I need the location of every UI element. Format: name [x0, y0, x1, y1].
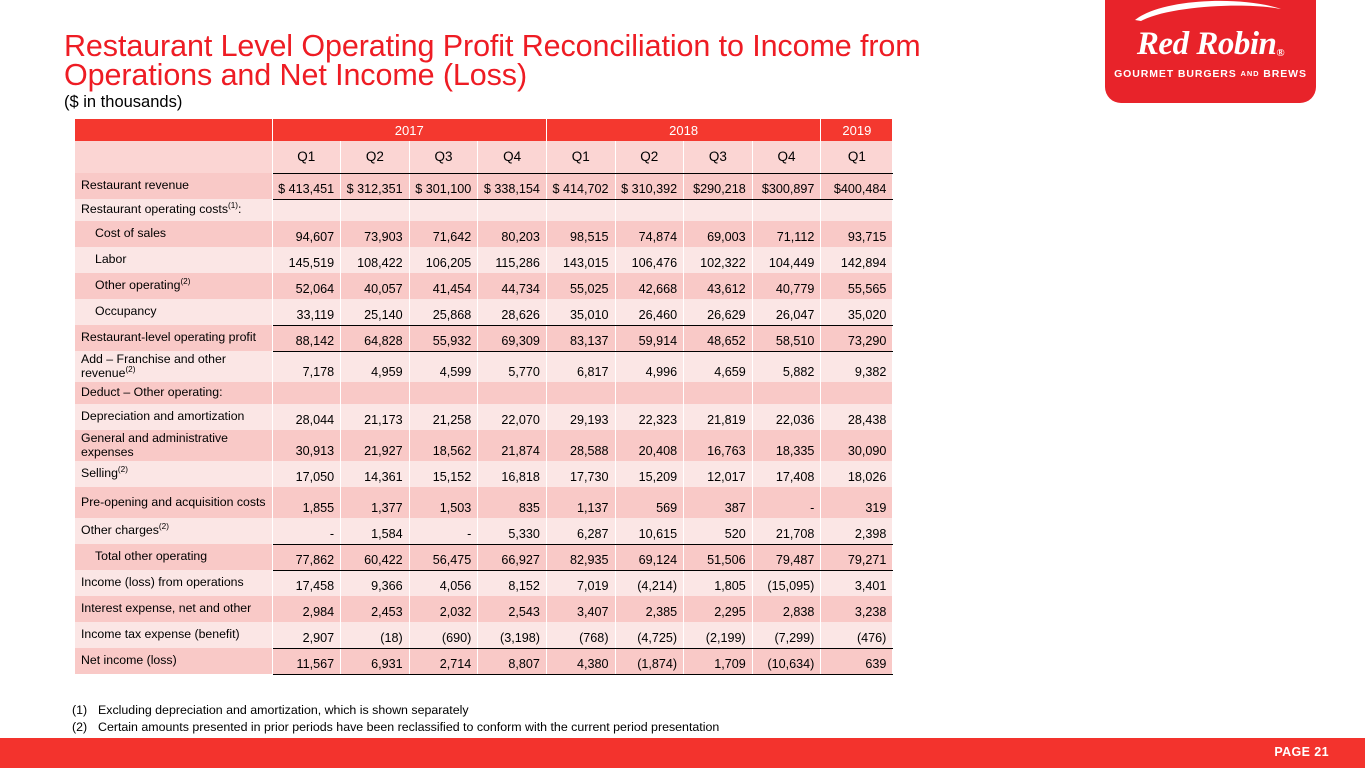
- cell-r16-c0: 2,984: [272, 596, 341, 622]
- page-title: Restaurant Level Operating Profit Reconc…: [64, 32, 1004, 90]
- cell-r13-c0: -: [272, 518, 341, 544]
- cell-r10-c4: 28,588: [546, 430, 615, 461]
- cell-r14-c5: 69,124: [615, 544, 684, 570]
- cell-r17-c8: (476): [821, 622, 893, 648]
- cell-r8-c2: [409, 382, 478, 404]
- cell-r2-c8: 93,715: [821, 221, 893, 247]
- cell-r3-c1: 108,422: [341, 247, 410, 273]
- cell-r13-c5: 10,615: [615, 518, 684, 544]
- cell-r2-c3: 80,203: [478, 221, 547, 247]
- cell-r18-c1: 6,931: [341, 648, 410, 674]
- cell-r3-c4: 143,015: [546, 247, 615, 273]
- table-row: Cost of sales94,60773,90371,64280,20398,…: [75, 221, 893, 247]
- cell-r1-c8: [821, 199, 893, 221]
- cell-r16-c8: 3,238: [821, 596, 893, 622]
- year-header-2019: 2019: [821, 119, 893, 141]
- cell-r9-c2: 21,258: [409, 404, 478, 430]
- footnote-marker: (1): [72, 702, 98, 719]
- cell-r8-c1: [341, 382, 410, 404]
- cell-r5-c4: 35,010: [546, 299, 615, 325]
- cell-r9-c1: 21,173: [341, 404, 410, 430]
- cell-r6-c8: 73,290: [821, 325, 893, 351]
- table-row: Add – Franchise and other revenue(2)7,17…: [75, 351, 893, 382]
- cell-r11-c5: 15,209: [615, 461, 684, 487]
- row-label: Deduct – Other operating:: [75, 382, 272, 404]
- cell-r5-c8: 35,020: [821, 299, 893, 325]
- cell-r10-c1: 21,927: [341, 430, 410, 461]
- table-row: Occupancy33,11925,14025,86828,62635,0102…: [75, 299, 893, 325]
- cell-r15-c1: 9,366: [341, 570, 410, 596]
- cell-r1-c3: [478, 199, 547, 221]
- row-label: Pre-opening and acquisition costs: [75, 487, 272, 518]
- cell-r10-c0: 30,913: [272, 430, 341, 461]
- cell-r8-c3: [478, 382, 547, 404]
- cell-r8-c7: [752, 382, 821, 404]
- cell-r0-c7: $300,897: [752, 173, 821, 199]
- cell-r18-c5: (1,874): [615, 648, 684, 674]
- row-label: Interest expense, net and other: [75, 596, 272, 622]
- quarter-header-6: Q3: [684, 141, 753, 173]
- logo-tagline: GOURMET BURGERS AND BREWS: [1105, 68, 1316, 80]
- table-body: Restaurant revenue$ 413,451$ 312,351$ 30…: [75, 173, 893, 674]
- cell-r10-c2: 18,562: [409, 430, 478, 461]
- cell-r6-c5: 59,914: [615, 325, 684, 351]
- cell-r3-c5: 106,476: [615, 247, 684, 273]
- cell-r17-c2: (690): [409, 622, 478, 648]
- cell-r13-c6: 520: [684, 518, 753, 544]
- cell-r13-c7: 21,708: [752, 518, 821, 544]
- row-label: Restaurant-level operating profit: [75, 325, 272, 351]
- quarter-header-3: Q4: [478, 141, 547, 173]
- cell-r12-c4: 1,137: [546, 487, 615, 518]
- cell-r4-c3: 44,734: [478, 273, 547, 299]
- cell-r16-c7: 2,838: [752, 596, 821, 622]
- cell-r17-c1: (18): [341, 622, 410, 648]
- footnote-2: (2)Certain amounts presented in prior pe…: [72, 719, 719, 736]
- cell-r4-c6: 43,612: [684, 273, 753, 299]
- table-row: Income tax expense (benefit)2,907(18)(69…: [75, 622, 893, 648]
- cell-r18-c3: 8,807: [478, 648, 547, 674]
- cell-r12-c6: 387: [684, 487, 753, 518]
- cell-r6-c7: 58,510: [752, 325, 821, 351]
- cell-r9-c8: 28,438: [821, 404, 893, 430]
- cell-r5-c2: 25,868: [409, 299, 478, 325]
- cell-r7-c5: 4,996: [615, 351, 684, 382]
- table-corner-cell: [75, 119, 272, 141]
- cell-r1-c1: [341, 199, 410, 221]
- row-label: Labor: [75, 247, 272, 273]
- cell-r3-c6: 102,322: [684, 247, 753, 273]
- table-row: Selling(2)17,05014,36115,15216,81817,730…: [75, 461, 893, 487]
- cell-r7-c2: 4,599: [409, 351, 478, 382]
- cell-r12-c8: 319: [821, 487, 893, 518]
- cell-r14-c6: 51,506: [684, 544, 753, 570]
- table-row: Restaurant operating costs(1):: [75, 199, 893, 221]
- row-label: Other operating(2): [75, 273, 272, 299]
- cell-r12-c2: 1,503: [409, 487, 478, 518]
- table-row: Pre-opening and acquisition costs1,8551,…: [75, 487, 893, 518]
- footer-bar: PAGE 21: [0, 738, 1365, 768]
- cell-r9-c7: 22,036: [752, 404, 821, 430]
- page-number: PAGE 21: [1274, 745, 1329, 759]
- cell-r4-c5: 42,668: [615, 273, 684, 299]
- financial-table-wrapper: 201720182019 Q1Q2Q3Q4Q1Q2Q3Q4Q1 Restaura…: [75, 119, 890, 675]
- cell-r14-c3: 66,927: [478, 544, 547, 570]
- row-label: Other charges(2): [75, 518, 272, 544]
- footnotes: (1)Excluding depreciation and amortizati…: [72, 702, 719, 736]
- cell-r4-c7: 40,779: [752, 273, 821, 299]
- cell-r4-c8: 55,565: [821, 273, 893, 299]
- cell-r2-c5: 74,874: [615, 221, 684, 247]
- cell-r0-c8: $400,484: [821, 173, 893, 199]
- cell-r12-c5: 569: [615, 487, 684, 518]
- table-year-header-row: 201720182019: [75, 119, 893, 141]
- quarter-header-0: Q1: [272, 141, 341, 173]
- quarter-header-2: Q3: [409, 141, 478, 173]
- cell-r12-c1: 1,377: [341, 487, 410, 518]
- cell-r3-c3: 115,286: [478, 247, 547, 273]
- cell-r3-c0: 145,519: [272, 247, 341, 273]
- table-row: Deduct – Other operating:: [75, 382, 893, 404]
- table-row: Other operating(2)52,06440,05741,45444,7…: [75, 273, 893, 299]
- cell-r17-c7: (7,299): [752, 622, 821, 648]
- cell-r0-c1: $ 312,351: [341, 173, 410, 199]
- cell-r11-c4: 17,730: [546, 461, 615, 487]
- quarter-header-4: Q1: [546, 141, 615, 173]
- cell-r10-c7: 18,335: [752, 430, 821, 461]
- cell-r14-c0: 77,862: [272, 544, 341, 570]
- cell-r7-c4: 6,817: [546, 351, 615, 382]
- cell-r18-c8: 639: [821, 648, 893, 674]
- cell-r11-c3: 16,818: [478, 461, 547, 487]
- quarter-header-8: Q1: [821, 141, 893, 173]
- financial-table: 201720182019 Q1Q2Q3Q4Q1Q2Q3Q4Q1 Restaura…: [75, 119, 893, 675]
- cell-r11-c6: 12,017: [684, 461, 753, 487]
- cell-r6-c1: 64,828: [341, 325, 410, 351]
- row-label: General and administrative expenses: [75, 430, 272, 461]
- cell-r2-c1: 73,903: [341, 221, 410, 247]
- cell-r13-c2: -: [409, 518, 478, 544]
- cell-r2-c7: 71,112: [752, 221, 821, 247]
- cell-r5-c3: 28,626: [478, 299, 547, 325]
- table-row: Income (loss) from operations17,4589,366…: [75, 570, 893, 596]
- cell-r0-c4: $ 414,702: [546, 173, 615, 199]
- cell-r3-c2: 106,205: [409, 247, 478, 273]
- cell-r1-c6: [684, 199, 753, 221]
- cell-r15-c2: 4,056: [409, 570, 478, 596]
- row-label: Restaurant operating costs(1):: [75, 199, 272, 221]
- cell-r8-c5: [615, 382, 684, 404]
- cell-r16-c4: 3,407: [546, 596, 615, 622]
- cell-r11-c0: 17,050: [272, 461, 341, 487]
- cell-r18-c4: 4,380: [546, 648, 615, 674]
- cell-r15-c0: 17,458: [272, 570, 341, 596]
- cell-r5-c5: 26,460: [615, 299, 684, 325]
- cell-r4-c4: 55,025: [546, 273, 615, 299]
- quarter-header-1: Q2: [341, 141, 410, 173]
- cell-r13-c4: 6,287: [546, 518, 615, 544]
- cell-r6-c0: 88,142: [272, 325, 341, 351]
- cell-r17-c3: (3,198): [478, 622, 547, 648]
- row-label: Selling(2): [75, 461, 272, 487]
- row-label: Occupancy: [75, 299, 272, 325]
- quarter-header-5: Q2: [615, 141, 684, 173]
- row-label: Cost of sales: [75, 221, 272, 247]
- cell-r7-c1: 4,959: [341, 351, 410, 382]
- cell-r13-c8: 2,398: [821, 518, 893, 544]
- cell-r12-c7: -: [752, 487, 821, 518]
- cell-r5-c0: 33,119: [272, 299, 341, 325]
- row-label: Restaurant revenue: [75, 173, 272, 199]
- cell-r2-c2: 71,642: [409, 221, 478, 247]
- footnote-marker: (2): [72, 719, 98, 736]
- table-row: Total other operating77,86260,42256,4756…: [75, 544, 893, 570]
- cell-r5-c6: 26,629: [684, 299, 753, 325]
- row-label: Income tax expense (benefit): [75, 622, 272, 648]
- cell-r11-c7: 17,408: [752, 461, 821, 487]
- cell-r9-c3: 22,070: [478, 404, 547, 430]
- cell-r9-c6: 21,819: [684, 404, 753, 430]
- cell-r14-c4: 82,935: [546, 544, 615, 570]
- cell-r4-c0: 52,064: [272, 273, 341, 299]
- cell-r2-c0: 94,607: [272, 221, 341, 247]
- table-row: Restaurant-level operating profit88,1426…: [75, 325, 893, 351]
- row-label: Net income (loss): [75, 648, 272, 674]
- footnote-text: Excluding depreciation and amortization,…: [98, 703, 469, 717]
- cell-r3-c7: 104,449: [752, 247, 821, 273]
- page-subtitle: ($ in thousands): [64, 93, 182, 112]
- cell-r1-c5: [615, 199, 684, 221]
- cell-r11-c2: 15,152: [409, 461, 478, 487]
- quarter-header-spacer: [75, 141, 272, 173]
- cell-r11-c8: 18,026: [821, 461, 893, 487]
- row-label: Add – Franchise and other revenue(2): [75, 351, 272, 382]
- cell-r11-c1: 14,361: [341, 461, 410, 487]
- table-row: Labor145,519108,422106,205115,286143,015…: [75, 247, 893, 273]
- red-robin-logo: Red Robin® GOURMET BURGERS AND BREWS: [1105, 0, 1316, 103]
- cell-r7-c6: 4,659: [684, 351, 753, 382]
- cell-r8-c0: [272, 382, 341, 404]
- cell-r0-c0: $ 413,451: [272, 173, 341, 199]
- row-label: Depreciation and amortization: [75, 404, 272, 430]
- cell-r1-c7: [752, 199, 821, 221]
- cell-r7-c0: 7,178: [272, 351, 341, 382]
- cell-r16-c2: 2,032: [409, 596, 478, 622]
- cell-r7-c3: 5,770: [478, 351, 547, 382]
- cell-r16-c6: 2,295: [684, 596, 753, 622]
- cell-r2-c6: 69,003: [684, 221, 753, 247]
- cell-r18-c7: (10,634): [752, 648, 821, 674]
- cell-r12-c0: 1,855: [272, 487, 341, 518]
- cell-r8-c6: [684, 382, 753, 404]
- cell-r10-c8: 30,090: [821, 430, 893, 461]
- cell-r5-c1: 25,140: [341, 299, 410, 325]
- table-row: Net income (loss)11,5676,9312,7148,8074,…: [75, 648, 893, 674]
- cell-r18-c0: 11,567: [272, 648, 341, 674]
- cell-r7-c7: 5,882: [752, 351, 821, 382]
- cell-r14-c2: 56,475: [409, 544, 478, 570]
- cell-r14-c7: 79,487: [752, 544, 821, 570]
- cell-r12-c3: 835: [478, 487, 547, 518]
- cell-r2-c4: 98,515: [546, 221, 615, 247]
- cell-r13-c3: 5,330: [478, 518, 547, 544]
- row-label: Income (loss) from operations: [75, 570, 272, 596]
- slide-root: Red Robin® GOURMET BURGERS AND BREWS Res…: [0, 0, 1365, 768]
- cell-r0-c5: $ 310,392: [615, 173, 684, 199]
- table-row: Interest expense, net and other2,9842,45…: [75, 596, 893, 622]
- cell-r0-c3: $ 338,154: [478, 173, 547, 199]
- cell-r14-c8: 79,271: [821, 544, 893, 570]
- cell-r9-c5: 22,323: [615, 404, 684, 430]
- table-row: Restaurant revenue$ 413,451$ 312,351$ 30…: [75, 173, 893, 199]
- cell-r1-c2: [409, 199, 478, 221]
- cell-r0-c2: $ 301,100: [409, 173, 478, 199]
- table-row: Other charges(2)-1,584-5,3306,28710,6155…: [75, 518, 893, 544]
- cell-r13-c1: 1,584: [341, 518, 410, 544]
- cell-r8-c4: [546, 382, 615, 404]
- footnote-text: Certain amounts presented in prior perio…: [98, 720, 719, 734]
- cell-r9-c0: 28,044: [272, 404, 341, 430]
- cell-r9-c4: 29,193: [546, 404, 615, 430]
- cell-r6-c2: 55,932: [409, 325, 478, 351]
- cell-r17-c0: 2,907: [272, 622, 341, 648]
- cell-r6-c4: 83,137: [546, 325, 615, 351]
- cell-r17-c4: (768): [546, 622, 615, 648]
- footnote-1: (1)Excluding depreciation and amortizati…: [72, 702, 719, 719]
- cell-r1-c4: [546, 199, 615, 221]
- cell-r1-c0: [272, 199, 341, 221]
- cell-r3-c8: 142,894: [821, 247, 893, 273]
- cell-r10-c6: 16,763: [684, 430, 753, 461]
- cell-r4-c1: 40,057: [341, 273, 410, 299]
- cell-r16-c1: 2,453: [341, 596, 410, 622]
- table-row: General and administrative expenses30,91…: [75, 430, 893, 461]
- cell-r6-c6: 48,652: [684, 325, 753, 351]
- cell-r0-c6: $290,218: [684, 173, 753, 199]
- row-label: Total other operating: [75, 544, 272, 570]
- cell-r10-c3: 21,874: [478, 430, 547, 461]
- cell-r15-c5: (4,214): [615, 570, 684, 596]
- year-header-2018: 2018: [546, 119, 820, 141]
- cell-r16-c3: 2,543: [478, 596, 547, 622]
- cell-r15-c8: 3,401: [821, 570, 893, 596]
- cell-r15-c7: (15,095): [752, 570, 821, 596]
- cell-r18-c2: 2,714: [409, 648, 478, 674]
- cell-r14-c1: 60,422: [341, 544, 410, 570]
- quarter-header-7: Q4: [752, 141, 821, 173]
- cell-r15-c3: 8,152: [478, 570, 547, 596]
- logo-wordmark: Red Robin®: [1105, 28, 1316, 61]
- table-quarter-header-row: Q1Q2Q3Q4Q1Q2Q3Q4Q1: [75, 141, 893, 173]
- cell-r6-c3: 69,309: [478, 325, 547, 351]
- cell-r17-c5: (4,725): [615, 622, 684, 648]
- cell-r7-c8: 9,382: [821, 351, 893, 382]
- cell-r4-c2: 41,454: [409, 273, 478, 299]
- cell-r15-c4: 7,019: [546, 570, 615, 596]
- cell-r10-c5: 20,408: [615, 430, 684, 461]
- cell-r5-c7: 26,047: [752, 299, 821, 325]
- cell-r18-c6: 1,709: [684, 648, 753, 674]
- table-row: Depreciation and amortization28,04421,17…: [75, 404, 893, 430]
- logo-registered-mark: ®: [1276, 47, 1284, 59]
- cell-r17-c6: (2,199): [684, 622, 753, 648]
- cell-r8-c8: [821, 382, 893, 404]
- cell-r15-c6: 1,805: [684, 570, 753, 596]
- year-header-2017: 2017: [272, 119, 546, 141]
- cell-r16-c5: 2,385: [615, 596, 684, 622]
